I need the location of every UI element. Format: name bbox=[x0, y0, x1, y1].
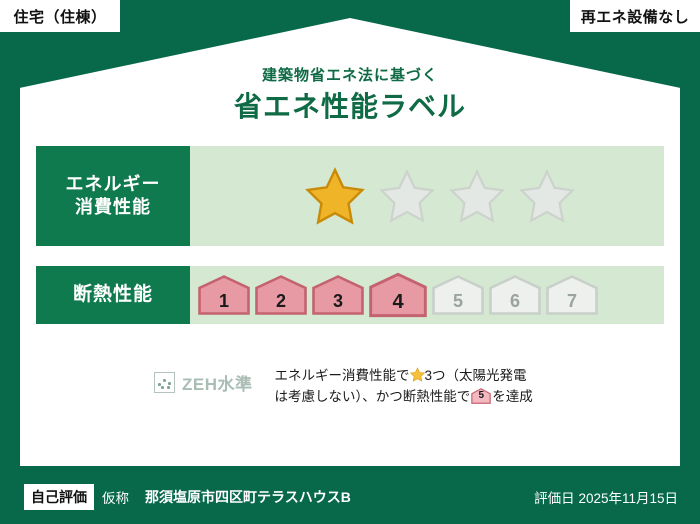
evaluation-date-value: 2025年11月15日 bbox=[578, 491, 678, 506]
house-number: 1 bbox=[198, 291, 250, 312]
house-number: 6 bbox=[489, 291, 541, 312]
desc-part3: を達成 bbox=[492, 389, 533, 404]
evaluation-date-label: 評価日 bbox=[534, 491, 575, 506]
insulation-house-4-active: 4 bbox=[369, 272, 427, 318]
insulation-house-2-active: 2 bbox=[255, 275, 307, 315]
star-3-empty bbox=[449, 169, 505, 223]
zeh-logo: ZEH水準 bbox=[154, 370, 253, 395]
renewable-energy-tag: 再エネ設備なし bbox=[570, 0, 700, 32]
energy-consumption-label-line1: エネルギー bbox=[66, 173, 161, 196]
insulation-house-1-active: 1 bbox=[198, 275, 250, 315]
desc-part2: は考慮しない）、かつ断熱性能で bbox=[275, 389, 471, 404]
building-type-tag: 住宅（住棟） bbox=[0, 0, 120, 32]
mini-house-badge: 5 bbox=[471, 388, 491, 404]
desc-star-count: 3つ（太陽光発電 bbox=[425, 368, 527, 383]
footer-left: 自己評価 仮称 那須塩原市四区町テラスハウスB bbox=[24, 484, 351, 510]
star-rating bbox=[190, 146, 664, 246]
zeh-criteria-description: エネルギー消費性能で3つ（太陽光発電 は考慮しない）、かつ断熱性能で5を達成 bbox=[275, 360, 533, 408]
house-number: 2 bbox=[255, 291, 307, 312]
star-1-filled bbox=[305, 167, 365, 225]
building-name: 那須塩原市四区町テラスハウスB bbox=[145, 487, 351, 507]
house-number: 5 bbox=[432, 291, 484, 312]
star-2-empty bbox=[379, 169, 435, 223]
renewable-energy-tag-text: 再エネ設備なし bbox=[581, 6, 690, 27]
energy-consumption-row: エネルギー 消費性能 bbox=[36, 146, 664, 246]
insulation-performance-label: 断熱性能 bbox=[36, 266, 190, 324]
house-number: 3 bbox=[312, 291, 364, 312]
desc-part1: エネルギー消費性能で bbox=[275, 368, 410, 383]
self-evaluation-badge: 自己評価 bbox=[24, 484, 94, 510]
building-type-tag-text: 住宅（住棟） bbox=[13, 6, 106, 27]
zeh-description-area: ZEH水準 エネルギー消費性能で3つ（太陽光発電 は考慮しない）、かつ断熱性能で… bbox=[36, 360, 664, 422]
house-number: 7 bbox=[546, 291, 598, 312]
zeh-house-icon bbox=[154, 372, 175, 393]
house-number: 4 bbox=[369, 291, 427, 314]
star-4-empty bbox=[519, 169, 575, 223]
evaluation-date: 評価日 2025年11月15日 bbox=[534, 487, 678, 507]
alias-label: 仮称 bbox=[102, 487, 129, 507]
mini-house-number: 5 bbox=[471, 388, 491, 404]
energy-consumption-label-line2: 消費性能 bbox=[75, 196, 151, 219]
energy-performance-label: 住宅（住棟） 再エネ設備なし 建築物省エネ法に基づく 省エネ性能ラベル エネルギ… bbox=[0, 0, 700, 524]
insulation-house-5-inactive: 5 bbox=[432, 275, 484, 315]
label-title: 省エネ性能ラベル bbox=[0, 85, 700, 125]
insulation-house-6-inactive: 6 bbox=[489, 275, 541, 315]
insulation-house-3-active: 3 bbox=[312, 275, 364, 315]
insulation-performance-label-text: 断熱性能 bbox=[73, 283, 153, 307]
insulation-scale: 1234567 bbox=[190, 266, 664, 324]
insulation-performance-row: 断熱性能 1234567 bbox=[36, 266, 664, 324]
energy-consumption-label: エネルギー 消費性能 bbox=[36, 146, 190, 246]
mini-star-icon bbox=[410, 367, 425, 382]
insulation-house-7-inactive: 7 bbox=[546, 275, 598, 315]
zeh-logo-text: ZEH水準 bbox=[182, 370, 253, 395]
label-subtitle: 建築物省エネ法に基づく bbox=[0, 64, 700, 85]
